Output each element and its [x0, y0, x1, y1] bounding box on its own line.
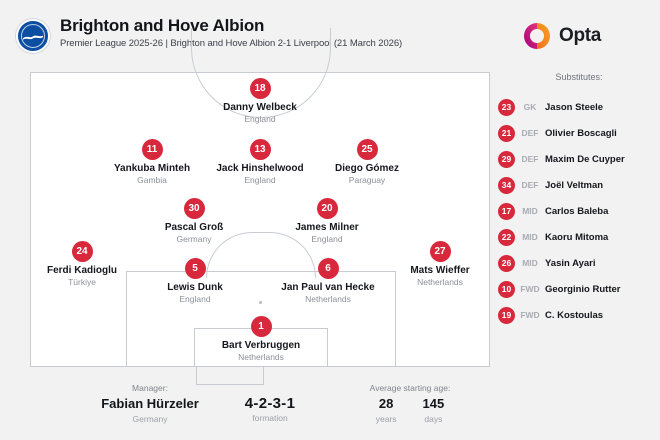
substitute-position: DEF — [515, 128, 545, 138]
player-country: England — [190, 114, 330, 125]
pitch-player: 30Pascal GroßGermany — [124, 198, 264, 245]
player-name: James Milner — [257, 222, 397, 234]
substitute-position: MID — [515, 232, 545, 242]
pitch-player: 25Diego GómezParaguay — [297, 139, 437, 186]
player-name: Lewis Dunk — [125, 282, 265, 294]
seagull-icon — [23, 34, 43, 41]
player-number-badge: 18 — [250, 78, 271, 99]
manager-name: Fabian Hürzeler — [75, 395, 225, 413]
substitute-name: Maxim De Cuyper — [545, 154, 625, 165]
substitute-name: Joël Veltman — [545, 180, 603, 191]
player-number-badge: 25 — [357, 139, 378, 160]
substitute-number-badge: 17 — [498, 203, 515, 220]
player-name: Danny Welbeck — [190, 102, 330, 114]
lineup-graphic: Brighton and Hove Albion Premier League … — [0, 0, 660, 440]
substitute-name: Carlos Baleba — [545, 206, 608, 217]
pitch-player: 5Lewis DunkEngland — [125, 258, 265, 305]
substitute-position: FWD — [515, 284, 545, 294]
opta-wordmark: Opta — [559, 25, 601, 47]
substitutes-panel: Substitutes: 23GKJason Steele21DEFOlivie… — [498, 72, 660, 328]
manager-country: Germany — [75, 413, 225, 425]
substitute-name: Yasin Ayari — [545, 258, 596, 269]
player-country: Netherlands — [370, 277, 510, 288]
player-number-badge: 27 — [430, 241, 451, 262]
formation-block: 4-2-3-1 formation — [205, 395, 335, 424]
substitute-row: 22MIDKaoru Mitoma — [498, 224, 660, 250]
substitute-row: 23GKJason Steele — [498, 94, 660, 120]
substitute-row: 19FWDC. Kostoulas — [498, 302, 660, 328]
substitute-number-badge: 21 — [498, 125, 515, 142]
substitute-position: DEF — [515, 180, 545, 190]
footer: Manager: Fabian Hürzeler Germany 4-2-3-1… — [0, 378, 500, 440]
average-age-label: Average starting age: — [330, 382, 490, 395]
player-country: Netherlands — [258, 294, 398, 305]
age-years-value: 28 — [376, 395, 397, 413]
opta-logo-icon — [523, 22, 551, 50]
pitch-player: 27Mats WiefferNetherlands — [370, 241, 510, 288]
substitute-position: GK — [515, 102, 545, 112]
formation-label: formation — [205, 412, 335, 424]
substitute-number-badge: 26 — [498, 255, 515, 272]
substitute-number-badge: 22 — [498, 229, 515, 246]
player-number-badge: 5 — [185, 258, 206, 279]
substitutes-list: 23GKJason Steele21DEFOlivier Boscagli29D… — [498, 94, 660, 328]
substitute-row: 29DEFMaxim De Cuyper — [498, 146, 660, 172]
brighton-seagull-crest-icon — [16, 19, 50, 53]
pitch-player: 1Bart VerbruggenNetherlands — [191, 316, 331, 363]
substitute-name: Jason Steele — [545, 102, 603, 113]
substitute-row: 26MIDYasin Ayari — [498, 250, 660, 276]
player-number-badge: 6 — [318, 258, 339, 279]
substitute-name: Kaoru Mitoma — [545, 232, 608, 243]
substitute-number-badge: 23 — [498, 99, 515, 116]
average-age-block: Average starting age: 28 years 145 days — [330, 382, 490, 425]
substitutes-title: Substitutes: — [498, 72, 660, 82]
player-country: Paraguay — [297, 175, 437, 186]
substitute-name: C. Kostoulas — [545, 310, 603, 321]
player-country: Netherlands — [191, 352, 331, 363]
substitute-position: FWD — [515, 310, 545, 320]
formation-value: 4-2-3-1 — [205, 395, 335, 412]
substitute-name: Olivier Boscagli — [545, 128, 617, 139]
player-name: Bart Verbruggen — [191, 340, 331, 352]
substitute-position: MID — [515, 206, 545, 216]
age-days-label: days — [423, 413, 445, 425]
player-number-badge: 24 — [72, 241, 93, 262]
substitute-position: MID — [515, 258, 545, 268]
player-name: Pascal Groß — [124, 222, 264, 234]
substitute-name: Georginio Rutter — [545, 284, 620, 295]
age-years-group: 28 years — [376, 395, 397, 425]
substitute-number-badge: 29 — [498, 151, 515, 168]
substitute-number-badge: 10 — [498, 281, 515, 298]
player-number-badge: 13 — [250, 139, 271, 160]
substitute-row: 34DEFJoël Veltman — [498, 172, 660, 198]
pitch-player: 18Danny WelbeckEngland — [190, 78, 330, 125]
opta-logo: Opta — [523, 22, 601, 50]
substitute-row: 21DEFOlivier Boscagli — [498, 120, 660, 146]
substitute-number-badge: 34 — [498, 177, 515, 194]
age-days-value: 145 — [423, 395, 445, 413]
age-years-label: years — [376, 413, 397, 425]
player-number-badge: 11 — [142, 139, 163, 160]
player-number-badge: 20 — [317, 198, 338, 219]
substitute-row: 10FWDGeorginio Rutter — [498, 276, 660, 302]
player-country: England — [125, 294, 265, 305]
substitute-row: 17MIDCarlos Baleba — [498, 198, 660, 224]
manager-block: Manager: Fabian Hürzeler Germany — [75, 382, 225, 425]
player-number-badge: 1 — [251, 316, 272, 337]
manager-label: Manager: — [75, 382, 225, 395]
player-name: Diego Gómez — [297, 163, 437, 175]
player-number-badge: 30 — [184, 198, 205, 219]
player-name: Mats Wieffer — [370, 265, 510, 277]
age-days-group: 145 days — [423, 395, 445, 425]
substitute-number-badge: 19 — [498, 307, 515, 324]
substitute-position: DEF — [515, 154, 545, 164]
pitch-player: 20James MilnerEngland — [257, 198, 397, 245]
